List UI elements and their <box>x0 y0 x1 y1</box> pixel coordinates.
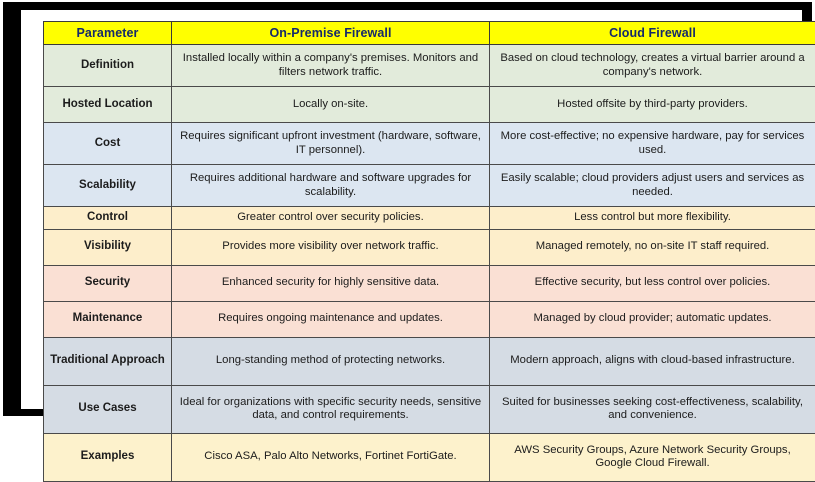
table-row: DefinitionInstalled locally within a com… <box>44 45 815 87</box>
on-premise-firewall-cell: Requires ongoing maintenance and updates… <box>172 301 490 337</box>
on-premise-firewall-cell: Ideal for organizations with specific se… <box>172 385 490 433</box>
on-premise-firewall-cell: Locally on-site. <box>172 87 490 123</box>
parameter-cell: Examples <box>44 433 172 481</box>
table-row: Use CasesIdeal for organizations with sp… <box>44 385 815 433</box>
table-row: CostRequires significant upfront investm… <box>44 123 815 165</box>
table-row: ExamplesCisco ASA, Palo Alto Networks, F… <box>44 433 815 481</box>
cloud-firewall-cell: Based on cloud technology, creates a vir… <box>490 45 815 87</box>
cloud-firewall-cell: More cost-effective; no expensive hardwa… <box>490 123 815 165</box>
table-row: ControlGreater control over security pol… <box>44 207 815 230</box>
parameter-cell: Scalability <box>44 165 172 207</box>
table-body: DefinitionInstalled locally within a com… <box>44 45 815 482</box>
table-header-row: Parameter On-Premise Firewall Cloud Fire… <box>44 22 815 45</box>
table-row: Hosted LocationLocally on-site.Hosted of… <box>44 87 815 123</box>
parameter-cell: Cost <box>44 123 172 165</box>
cloud-firewall-cell: Managed remotely, no on-site IT staff re… <box>490 229 815 265</box>
table-row: MaintenanceRequires ongoing maintenance … <box>44 301 815 337</box>
column-header-on-premise-firewall: On-Premise Firewall <box>172 22 490 45</box>
cloud-firewall-cell: AWS Security Groups, Azure Network Secur… <box>490 433 815 481</box>
parameter-cell: Use Cases <box>44 385 172 433</box>
cloud-firewall-cell: Managed by cloud provider; automatic upd… <box>490 301 815 337</box>
inner-white-mat: Parameter On-Premise Firewall Cloud Fire… <box>21 10 802 409</box>
on-premise-firewall-cell: Installed locally within a company's pre… <box>172 45 490 87</box>
on-premise-firewall-cell: Enhanced security for highly sensitive d… <box>172 265 490 301</box>
cloud-firewall-cell: Effective security, but less control ove… <box>490 265 815 301</box>
parameter-cell: Hosted Location <box>44 87 172 123</box>
table-row: Traditional ApproachLong-standing method… <box>44 337 815 385</box>
table-header: Parameter On-Premise Firewall Cloud Fire… <box>44 22 815 45</box>
on-premise-firewall-cell: Requires significant upfront investment … <box>172 123 490 165</box>
cloud-firewall-cell: Hosted offsite by third-party providers. <box>490 87 815 123</box>
table-row: SecurityEnhanced security for highly sen… <box>44 265 815 301</box>
firewall-comparison-table: Parameter On-Premise Firewall Cloud Fire… <box>43 21 815 482</box>
cloud-firewall-cell: Suited for businesses seeking cost-effec… <box>490 385 815 433</box>
cloud-firewall-cell: Easily scalable; cloud providers adjust … <box>490 165 815 207</box>
on-premise-firewall-cell: Long-standing method of protecting netwo… <box>172 337 490 385</box>
column-header-parameter: Parameter <box>44 22 172 45</box>
comparison-table-container: Parameter On-Premise Firewall Cloud Fire… <box>43 21 815 413</box>
on-premise-firewall-cell: Provides more visibility over network tr… <box>172 229 490 265</box>
parameter-cell: Traditional Approach <box>44 337 172 385</box>
parameter-cell: Visibility <box>44 229 172 265</box>
outer-frame-border: Parameter On-Premise Firewall Cloud Fire… <box>3 2 812 416</box>
on-premise-firewall-cell: Requires additional hardware and softwar… <box>172 165 490 207</box>
parameter-cell: Definition <box>44 45 172 87</box>
on-premise-firewall-cell: Greater control over security policies. <box>172 207 490 230</box>
table-row: VisibilityProvides more visibility over … <box>44 229 815 265</box>
cloud-firewall-cell: Modern approach, aligns with cloud-based… <box>490 337 815 385</box>
on-premise-firewall-cell: Cisco ASA, Palo Alto Networks, Fortinet … <box>172 433 490 481</box>
column-header-cloud-firewall: Cloud Firewall <box>490 22 815 45</box>
parameter-cell: Maintenance <box>44 301 172 337</box>
cloud-firewall-cell: Less control but more flexibility. <box>490 207 815 230</box>
table-row: ScalabilityRequires additional hardware … <box>44 165 815 207</box>
parameter-cell: Control <box>44 207 172 230</box>
parameter-cell: Security <box>44 265 172 301</box>
